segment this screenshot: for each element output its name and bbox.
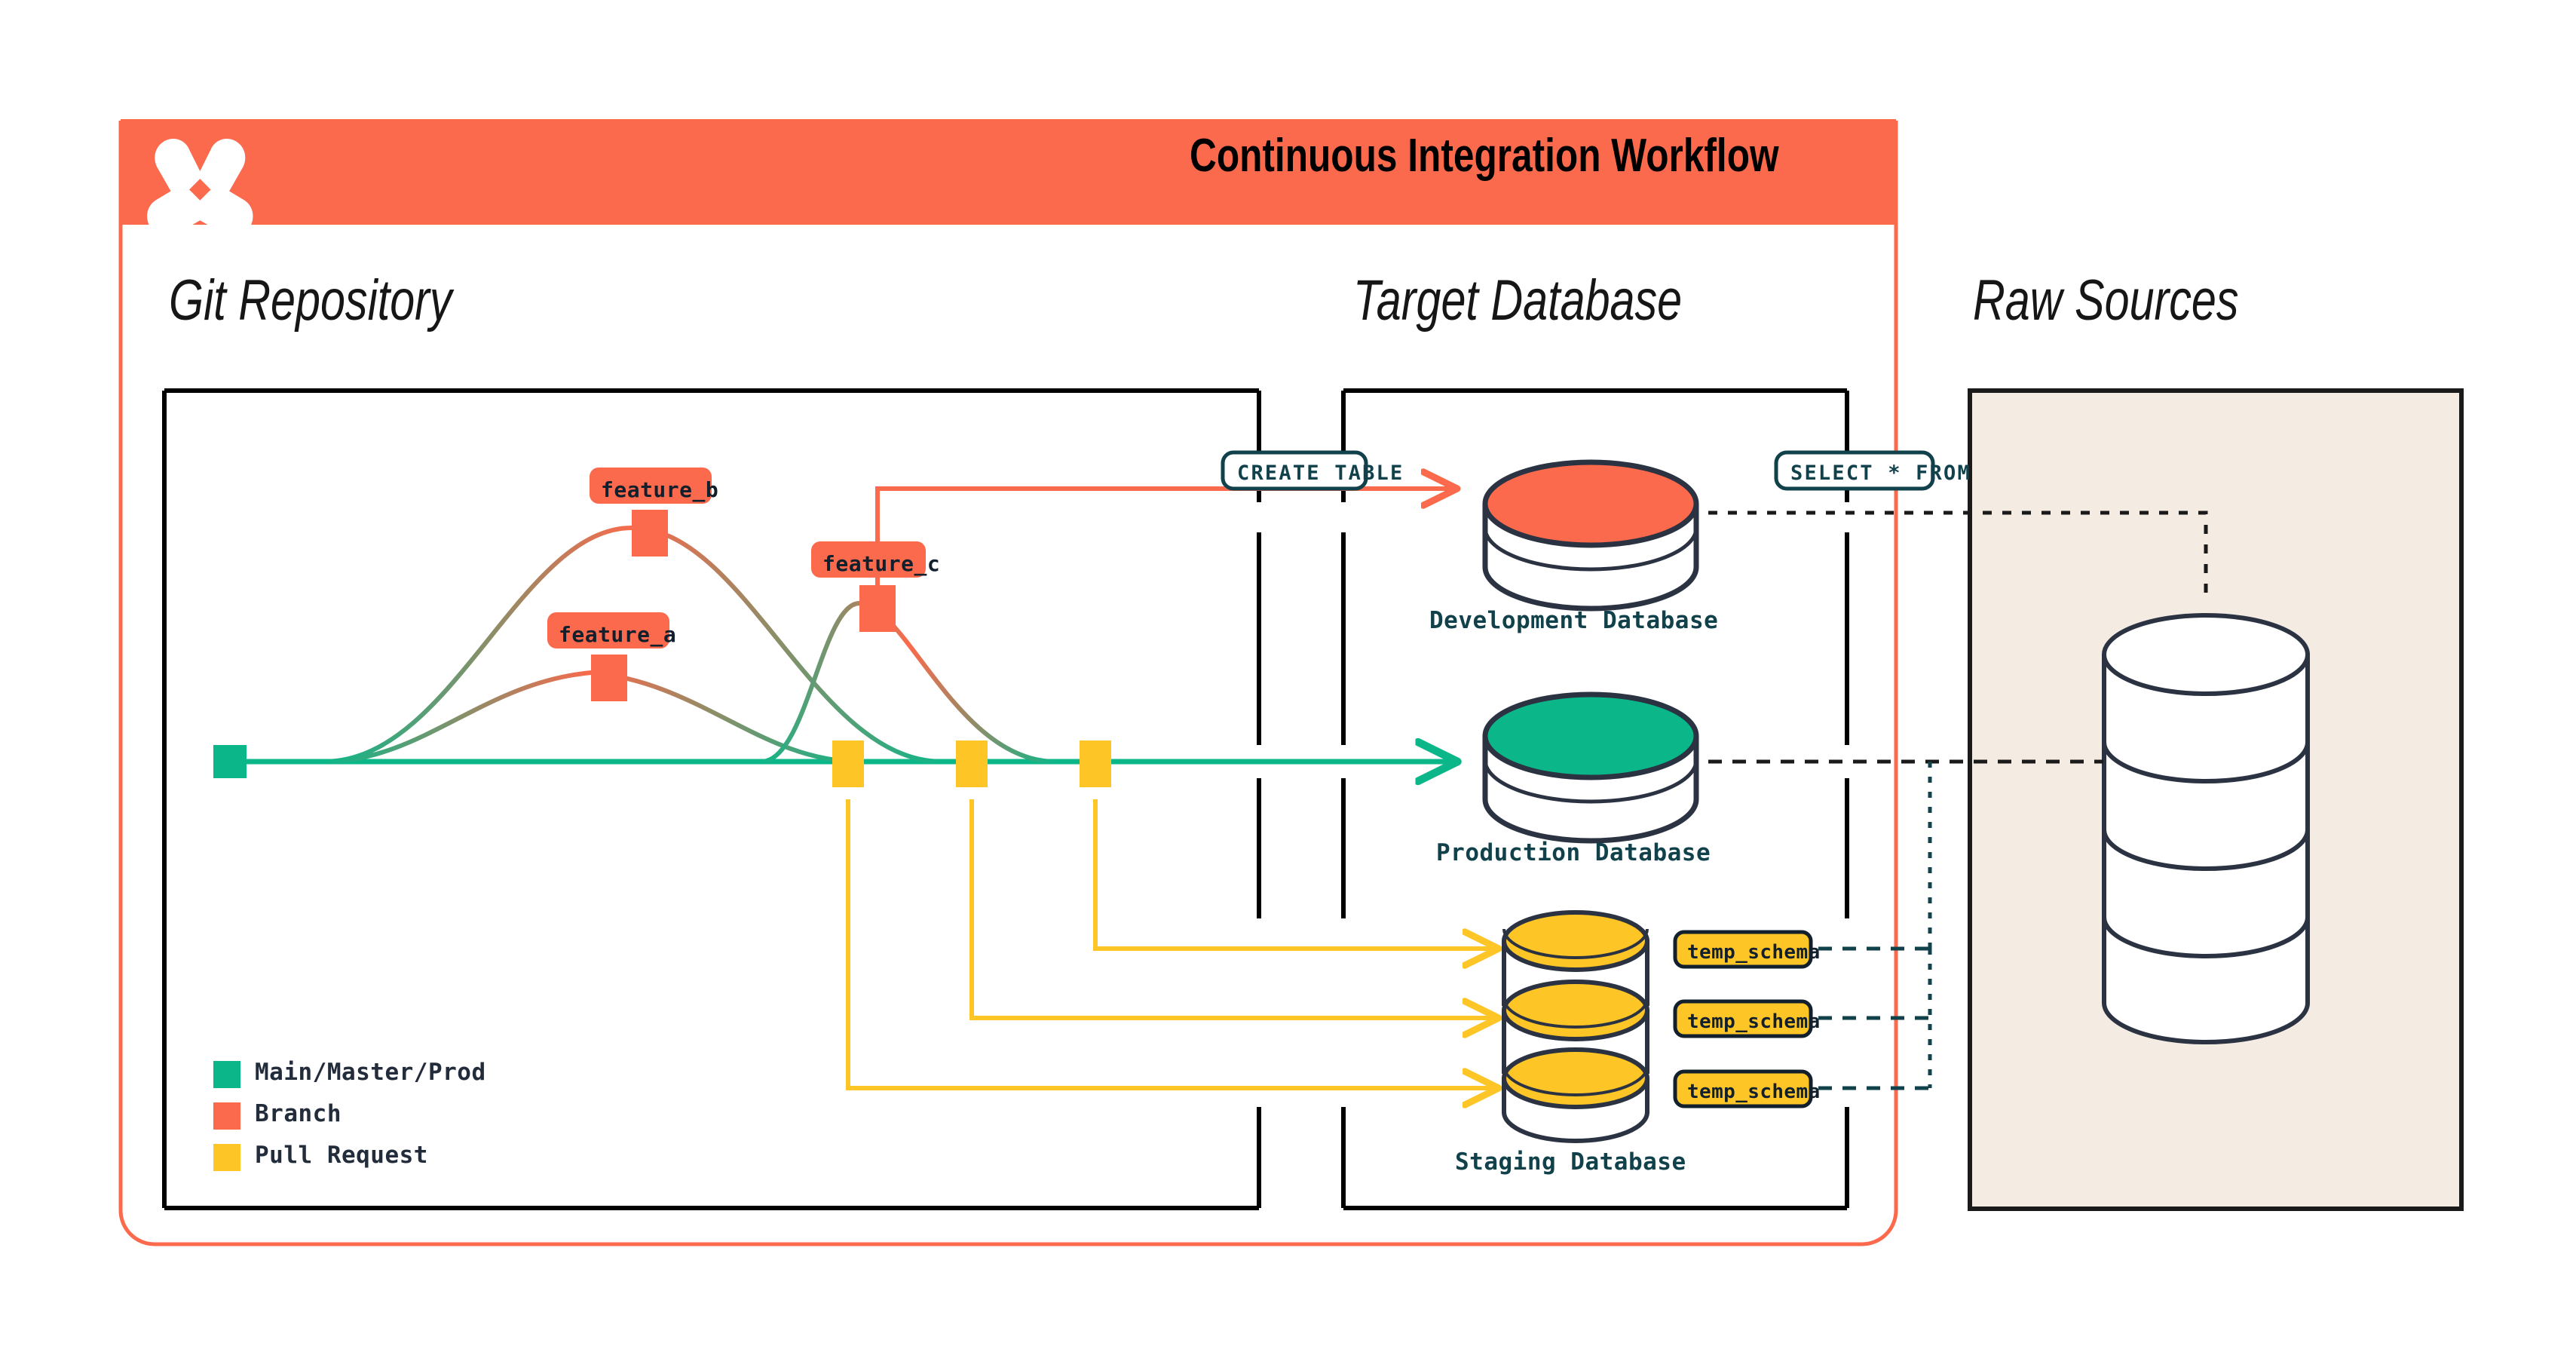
database-label-staging: Staging Database [1455, 1148, 1686, 1176]
legend-swatch-main [213, 1061, 240, 1088]
pr-node-1[interactable] [832, 740, 864, 787]
diagram-canvas: Continuous Integration Workflow Git Repo… [0, 0, 2576, 1346]
development-database-cylinder[interactable] [1485, 462, 1696, 609]
database-label-development: Development Database [1429, 607, 1718, 634]
section-header-target-database: Target Database [1353, 268, 1682, 333]
database-label-production: Production Database [1436, 839, 1711, 866]
branch-label-feature-a: feature_a [559, 622, 676, 647]
section-header-git-repository: Git Repository [169, 268, 452, 333]
commit-node-main[interactable] [213, 745, 247, 778]
branch-label-feature-b: feature_b [601, 477, 718, 502]
raw-source-cylinder[interactable] [2104, 615, 2308, 1042]
schema-badge-label-1: temp_schema [1687, 941, 1821, 964]
legend-label-main: Main/Master/Prod [255, 1059, 486, 1086]
pr-node-3[interactable] [1080, 740, 1111, 787]
legend-swatch-pr [213, 1144, 240, 1171]
staging-database-cylinder[interactable] [1504, 912, 1647, 1141]
commit-node-feature-a[interactable] [591, 655, 627, 701]
schema-badge-label-2: temp_schema [1687, 1010, 1821, 1033]
production-database-cylinder[interactable] [1485, 694, 1696, 841]
sql-badge-label-create-table: CREATE TABLE [1237, 461, 1404, 485]
legend-swatch-branch [213, 1102, 240, 1130]
page-title: Continuous Integration Workflow [1190, 129, 1779, 182]
legend-label-branch: Branch [255, 1100, 342, 1127]
schema-badge-label-3: temp_schema [1687, 1081, 1821, 1103]
pr-node-2[interactable] [956, 740, 988, 787]
legend-label-pull-request: Pull Request [255, 1142, 428, 1169]
commit-node-feature-b[interactable] [632, 510, 668, 556]
commit-node-feature-c[interactable] [859, 585, 896, 632]
sql-badge-label-select-from: SELECT * FROM [1790, 461, 1971, 485]
section-header-raw-sources: Raw Sources [1973, 268, 2239, 333]
branch-label-feature-c: feature_c [822, 551, 940, 576]
